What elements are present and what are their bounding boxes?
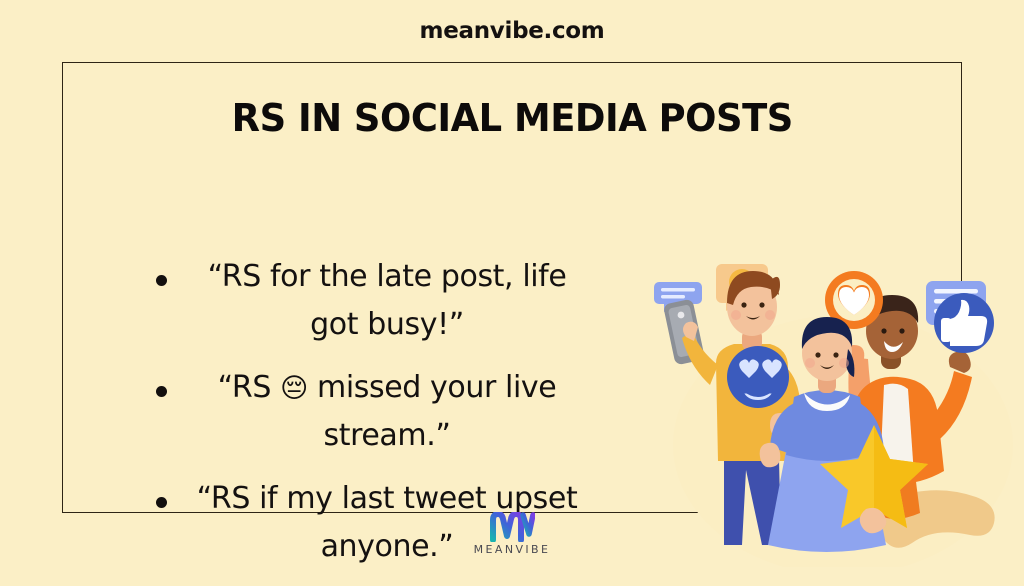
slide-canvas: meanvibe.com RS IN SOCIAL MEDIA POSTS “R… xyxy=(0,0,1024,576)
footer-logo: MEANVIBE xyxy=(0,512,1024,556)
title-area: RS IN SOCIAL MEDIA POSTS xyxy=(63,63,961,173)
page-title: RS IN SOCIAL MEDIA POSTS xyxy=(231,96,792,140)
logo-wordmark: MEANVIBE xyxy=(474,543,551,556)
bullet-text: “RS 😔 missed your live stream.” xyxy=(127,364,597,460)
bullet-dot-icon xyxy=(156,386,167,397)
heart-eyes-emoji-icon xyxy=(727,346,789,408)
list-item: “RS for the late post, life got busy!” xyxy=(127,253,597,349)
list-item: “RS 😔 missed your live stream.” xyxy=(127,364,597,460)
content-card: RS IN SOCIAL MEDIA POSTS “RS for the lat… xyxy=(62,62,962,513)
meanvibe-logo-icon xyxy=(489,512,535,542)
pensive-face-emoji-icon: 😔 xyxy=(280,373,308,404)
bullet-dot-icon xyxy=(156,497,167,508)
site-header: meanvibe.com xyxy=(0,18,1024,44)
bullet-text-post: missed your live stream.” xyxy=(308,370,556,453)
bullet-dot-icon xyxy=(156,275,167,286)
thumbs-up-icon xyxy=(934,293,994,353)
bullet-text-pre: “RS xyxy=(218,370,280,405)
bullet-text: “RS for the late post, life got busy!” xyxy=(127,253,597,349)
